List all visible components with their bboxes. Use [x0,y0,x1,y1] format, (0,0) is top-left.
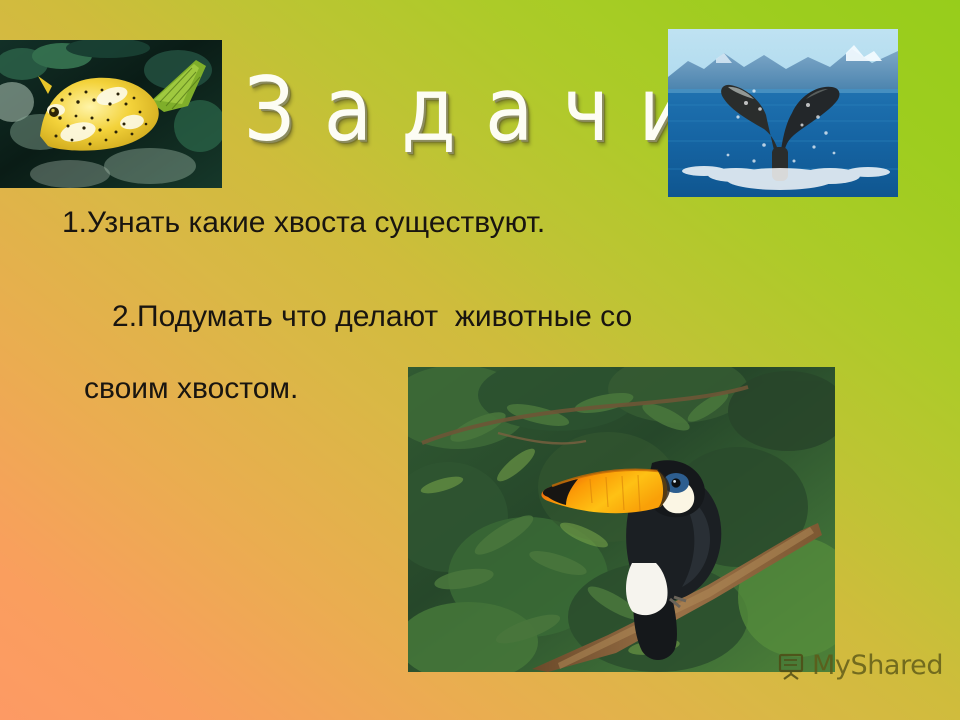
watermark-label: MyShared [812,650,943,681]
myshared-watermark: MyShared [776,650,943,681]
projector-screen-icon [776,651,806,681]
whale-tail-illustration [668,29,898,197]
boxfish-illustration [0,40,222,188]
boxfish-photo [0,40,222,188]
slide-title: З а д а ч и : [244,48,674,182]
toucan-illustration [408,367,835,672]
presentation-slide: З а д а ч и : [0,0,960,720]
task-item-1: 1.Узнать какие хвоста существуют. [62,205,702,241]
toucan-photo [408,367,835,672]
task-item-2-line1: 2.Подумать что делают животные со [112,300,632,333]
whale-tail-photo [668,29,898,197]
